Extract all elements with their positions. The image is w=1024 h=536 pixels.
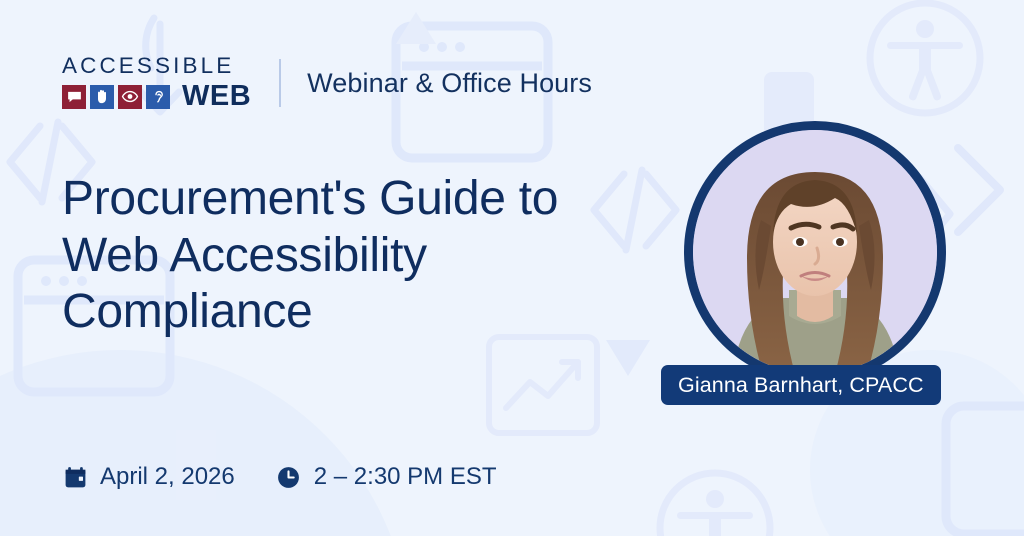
speaker-avatar [684, 121, 946, 383]
brand-header: ACCESSIBLE WEB Webinar & Office Hours [62, 52, 592, 114]
event-details: April 2, 2026 2 – 2:30 PM EST [62, 459, 497, 495]
event-date-text: April 2, 2026 [100, 463, 235, 491]
ear-icon [146, 85, 170, 109]
logo-wordmark-bottom: WEB [182, 82, 251, 111]
page-title: Procurement's Guide to Web Accessibility… [62, 171, 662, 341]
webinar-promo-banner: ACCESSIBLE WEB Webinar & Office Hours [0, 0, 1024, 536]
calendar-icon [62, 464, 88, 490]
event-time: 2 – 2:30 PM EST [276, 463, 497, 491]
hand-icon [90, 85, 114, 109]
header-divider [279, 59, 281, 107]
logo-wordmark-top: ACCESSIBLE [62, 55, 251, 78]
line-chart-icon [489, 337, 597, 433]
triangle-icon [396, 12, 436, 44]
accessible-web-logo[interactable]: ACCESSIBLE WEB [62, 55, 251, 112]
speech-bubble-icon [62, 85, 86, 109]
event-time-text: 2 – 2:30 PM EST [314, 463, 497, 491]
speaker-name-badge: Gianna Barnhart, CPACC [661, 365, 941, 405]
triangle-icon [606, 340, 650, 376]
logo-icon-row: WEB [62, 82, 251, 111]
eye-icon [118, 85, 142, 109]
event-date: April 2, 2026 [62, 463, 235, 491]
header-tagline: Webinar & Office Hours [307, 68, 592, 99]
accessibility-person-icon [660, 473, 770, 536]
chevron-right-icon [958, 148, 1000, 232]
clock-icon [276, 464, 302, 490]
accessibility-person-icon [870, 3, 980, 113]
browser-window-icon [946, 406, 1024, 534]
